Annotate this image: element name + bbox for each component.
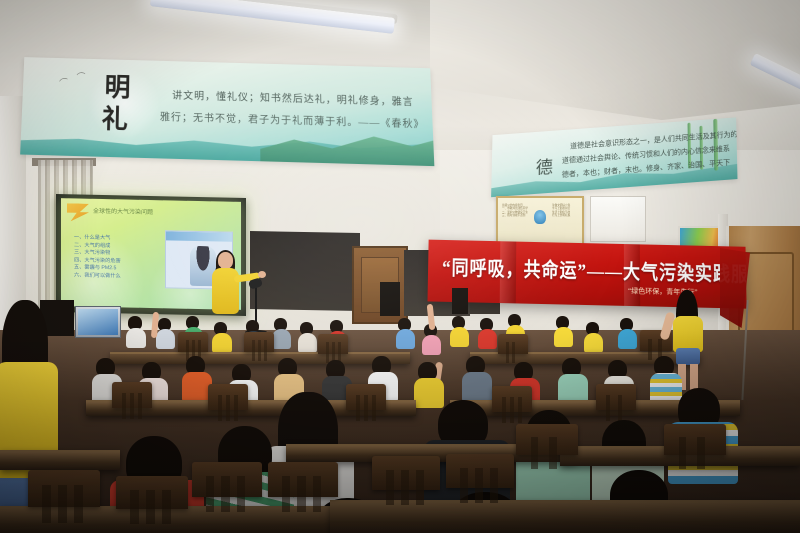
chair-slat bbox=[510, 397, 515, 423]
banner-main-text: “同呼吸，共命运”——大气污染实践服务团 bbox=[442, 251, 742, 287]
volunteer-shirt bbox=[673, 316, 703, 352]
presenter-hand bbox=[258, 271, 266, 278]
child-torso bbox=[462, 372, 492, 402]
chair-slat bbox=[258, 340, 262, 360]
chair[interactable] bbox=[112, 382, 152, 426]
chair[interactable] bbox=[244, 332, 274, 366]
chair-slat bbox=[162, 490, 171, 524]
chair-slat bbox=[146, 490, 155, 524]
chair-slat bbox=[490, 468, 498, 503]
chair-slat bbox=[506, 342, 510, 362]
chair-slat bbox=[313, 476, 321, 512]
child-torso bbox=[584, 333, 603, 353]
chair-slat bbox=[282, 476, 290, 512]
child bbox=[274, 318, 292, 348]
child bbox=[158, 318, 176, 348]
child bbox=[586, 322, 604, 352]
child-torso bbox=[212, 333, 232, 353]
chair-slat bbox=[58, 485, 67, 523]
child-torso bbox=[554, 327, 573, 347]
chair-slat bbox=[226, 395, 231, 421]
child-torso bbox=[272, 329, 291, 349]
slide-image-band bbox=[166, 231, 232, 241]
child-torso bbox=[618, 329, 637, 349]
chair[interactable] bbox=[372, 456, 440, 514]
chair-slat bbox=[606, 395, 611, 421]
chair-slat bbox=[252, 340, 256, 360]
child bbox=[480, 318, 498, 348]
chair-slat bbox=[42, 485, 51, 523]
child bbox=[562, 358, 588, 402]
chair-back bbox=[516, 424, 578, 455]
child-torso bbox=[396, 329, 415, 349]
poster-line: 行为上文明礼貌 bbox=[552, 214, 574, 217]
chair-slat bbox=[364, 395, 369, 421]
mural-char-de: 德 bbox=[536, 153, 553, 179]
chair[interactable] bbox=[116, 476, 188, 533]
child-torso bbox=[126, 328, 146, 348]
chair-slat bbox=[386, 470, 394, 505]
chair-slat bbox=[138, 393, 143, 419]
chair-slat bbox=[297, 476, 305, 512]
chair[interactable] bbox=[192, 462, 262, 522]
child-torso bbox=[450, 327, 469, 347]
chair[interactable] bbox=[268, 462, 338, 522]
chair-back bbox=[596, 384, 636, 410]
child bbox=[300, 322, 318, 352]
chair-slat bbox=[549, 437, 556, 469]
child bbox=[452, 316, 470, 346]
chair-slat bbox=[218, 395, 223, 421]
poster-column: 班级公约内容条目 一、尊敬师长团结同学 二、爱护公物讲究卫生 三、按时到校不迟到 bbox=[502, 204, 524, 244]
child bbox=[398, 318, 416, 348]
slide-bullet-list: 一、什么是大气 二、大气的组成 三、大气污染物 四、大气污染的危害 五、雾霾与 … bbox=[74, 234, 156, 281]
chair-slat bbox=[512, 342, 516, 362]
laptop-display bbox=[78, 309, 118, 335]
child bbox=[556, 316, 574, 346]
chair[interactable] bbox=[446, 454, 514, 512]
chair-slat bbox=[372, 395, 377, 421]
slide-logo-icon bbox=[67, 203, 89, 221]
chair-slat bbox=[460, 468, 468, 503]
mural-text-line-1: 讲文明，懂礼仪；知书然后达礼，明礼修身，雅言 bbox=[172, 87, 414, 109]
chair-slat bbox=[531, 437, 538, 469]
chair-slat bbox=[237, 476, 245, 512]
child-torso bbox=[422, 335, 441, 355]
child-torso bbox=[298, 333, 317, 353]
slide-title: 全球性的大气污染问题 bbox=[93, 206, 153, 216]
chair-slat bbox=[234, 395, 239, 421]
chair[interactable] bbox=[516, 424, 578, 478]
desk-row bbox=[0, 450, 120, 470]
chair-slat bbox=[618, 395, 623, 421]
chair-slat bbox=[74, 485, 83, 523]
chair[interactable] bbox=[664, 424, 726, 478]
chair-slat bbox=[206, 476, 214, 512]
slide-bullet: 六、我们可以做什么 bbox=[74, 272, 156, 281]
chair-slat bbox=[648, 339, 652, 361]
poster-column: 争做文明好少年 学习上勤奋刻苦 生活上勤俭节约 行为上文明礼貌 bbox=[552, 204, 574, 244]
child bbox=[620, 318, 638, 348]
chair-slat bbox=[679, 437, 686, 469]
chair-slat bbox=[697, 437, 704, 469]
classroom-photo-scene: 明 礼 讲文明，懂礼仪；知书然后达礼，明礼修身，雅言 雅行；无书不觉，君子为于礼… bbox=[0, 0, 800, 533]
child bbox=[128, 316, 146, 346]
speaker-box bbox=[452, 288, 468, 314]
chair-slat bbox=[416, 470, 424, 505]
laptop-screen[interactable] bbox=[75, 306, 121, 338]
child bbox=[466, 356, 492, 400]
lightbulb-icon bbox=[534, 210, 546, 224]
child bbox=[214, 322, 232, 352]
mural-text-line-2: 雅行；无书不觉，君子为于礼而薄于利。——《春秋》 bbox=[160, 108, 425, 130]
chair-slat bbox=[264, 340, 268, 360]
volunteer-leg bbox=[690, 364, 698, 390]
chair-slat bbox=[401, 470, 409, 505]
mural-char-li: 礼 bbox=[101, 107, 128, 134]
child-torso bbox=[156, 329, 175, 349]
chair-slat bbox=[475, 468, 483, 503]
mural-char-ming: 明 bbox=[104, 75, 130, 101]
chair-slat bbox=[221, 476, 229, 512]
wall-poster-board bbox=[590, 196, 646, 242]
chair-slat bbox=[130, 490, 139, 524]
chair-slat bbox=[356, 395, 361, 421]
poster-line: 三、按时到校不迟到 bbox=[502, 214, 524, 217]
chair[interactable] bbox=[346, 384, 386, 428]
chair[interactable] bbox=[28, 470, 100, 533]
child-torso bbox=[478, 329, 497, 349]
chair[interactable] bbox=[208, 384, 248, 428]
speaker-box bbox=[380, 282, 400, 316]
bird-icon: ︵ bbox=[75, 63, 86, 77]
chair-slat bbox=[130, 393, 135, 419]
chair-back bbox=[664, 424, 726, 455]
chair-slat bbox=[122, 393, 127, 419]
